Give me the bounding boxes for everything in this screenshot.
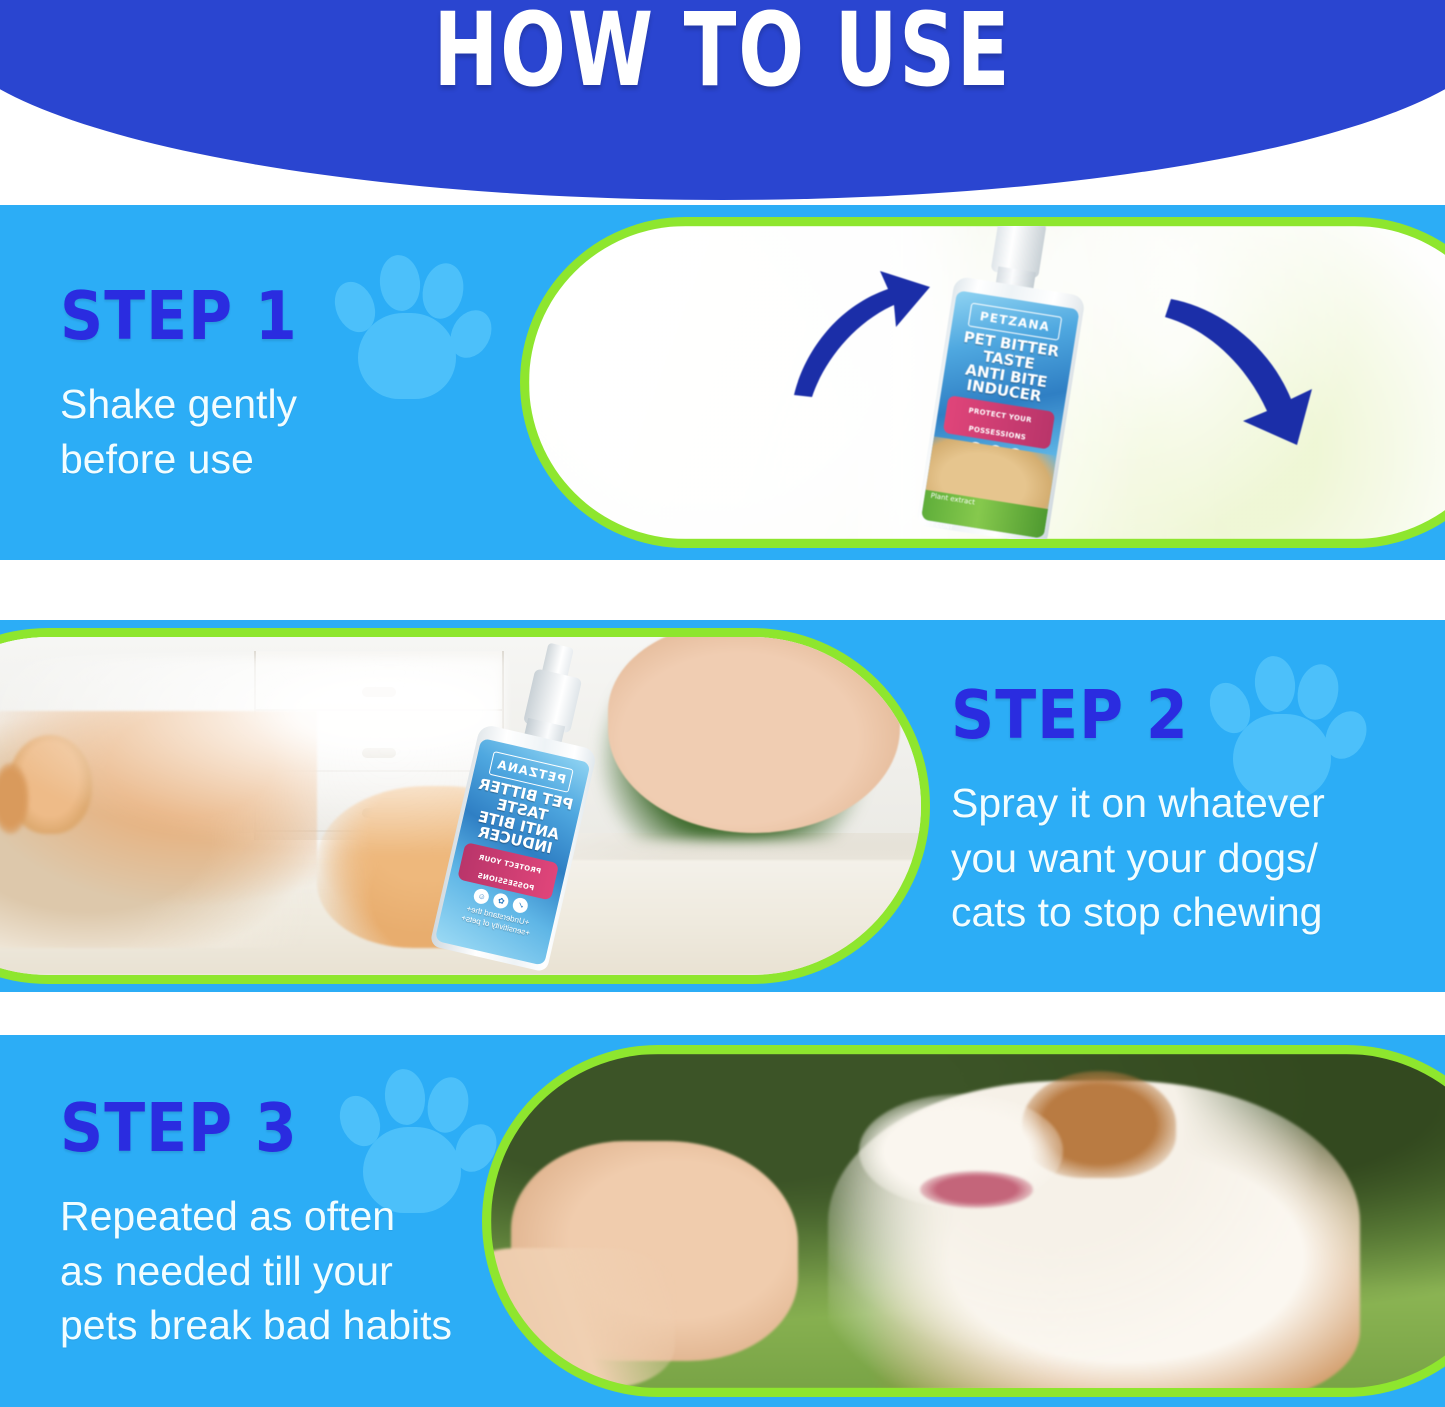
product-brand: PETZANA [979, 309, 1051, 334]
step-1-body: Shake gently before use [60, 377, 480, 486]
step-1-photo: PETZANA PET BITTER TASTE ANTI BITE INDUC… [529, 226, 1445, 539]
step-3-photo [491, 1054, 1445, 1388]
curved-arrow-up-icon [784, 257, 934, 402]
step-section-2: STEP 2 Spray it on whatever you want you… [0, 620, 1445, 992]
step-3-heading: STEP 3 [60, 1095, 530, 1162]
infographic-page: HOW TO USE STEP 1 Shake gently before us… [0, 0, 1445, 1407]
feature-smile-icon: ☺ [472, 888, 490, 906]
feature-flower-icon: ✿ [492, 892, 510, 910]
step-1-image-panel: PETZANA PET BITTER TASTE ANTI BITE INDUC… [520, 217, 1445, 548]
step-2-image-panel: PETZANA PET BITTER TASTE ANTI BITE INDUC… [0, 628, 930, 984]
step-2-body: Spray it on whatever you want your dogs/… [951, 776, 1421, 940]
page-title: HOW TO USE [18, 0, 1427, 101]
step-1-text-block: STEP 1 Shake gently before use [60, 283, 480, 486]
step-section-3: STEP 3 Repeated as often as needed till … [0, 1035, 1445, 1407]
step-section-1: STEP 1 Shake gently before use [0, 205, 1445, 560]
step-3-image-panel [482, 1045, 1445, 1397]
step-2-photo: PETZANA PET BITTER TASTE ANTI BITE INDUC… [0, 637, 921, 975]
step-2-text-block: STEP 2 Spray it on whatever you want you… [951, 682, 1421, 940]
header-banner: HOW TO USE [0, 0, 1445, 200]
step-1-heading: STEP 1 [60, 283, 480, 350]
step-2-heading: STEP 2 [951, 682, 1421, 749]
step-3-body: Repeated as often as needed till your pe… [60, 1189, 530, 1353]
step-3-text-block: STEP 3 Repeated as often as needed till … [60, 1095, 530, 1353]
feature-check-icon: ✓ [511, 897, 529, 915]
curved-arrow-down-icon [1157, 289, 1322, 454]
